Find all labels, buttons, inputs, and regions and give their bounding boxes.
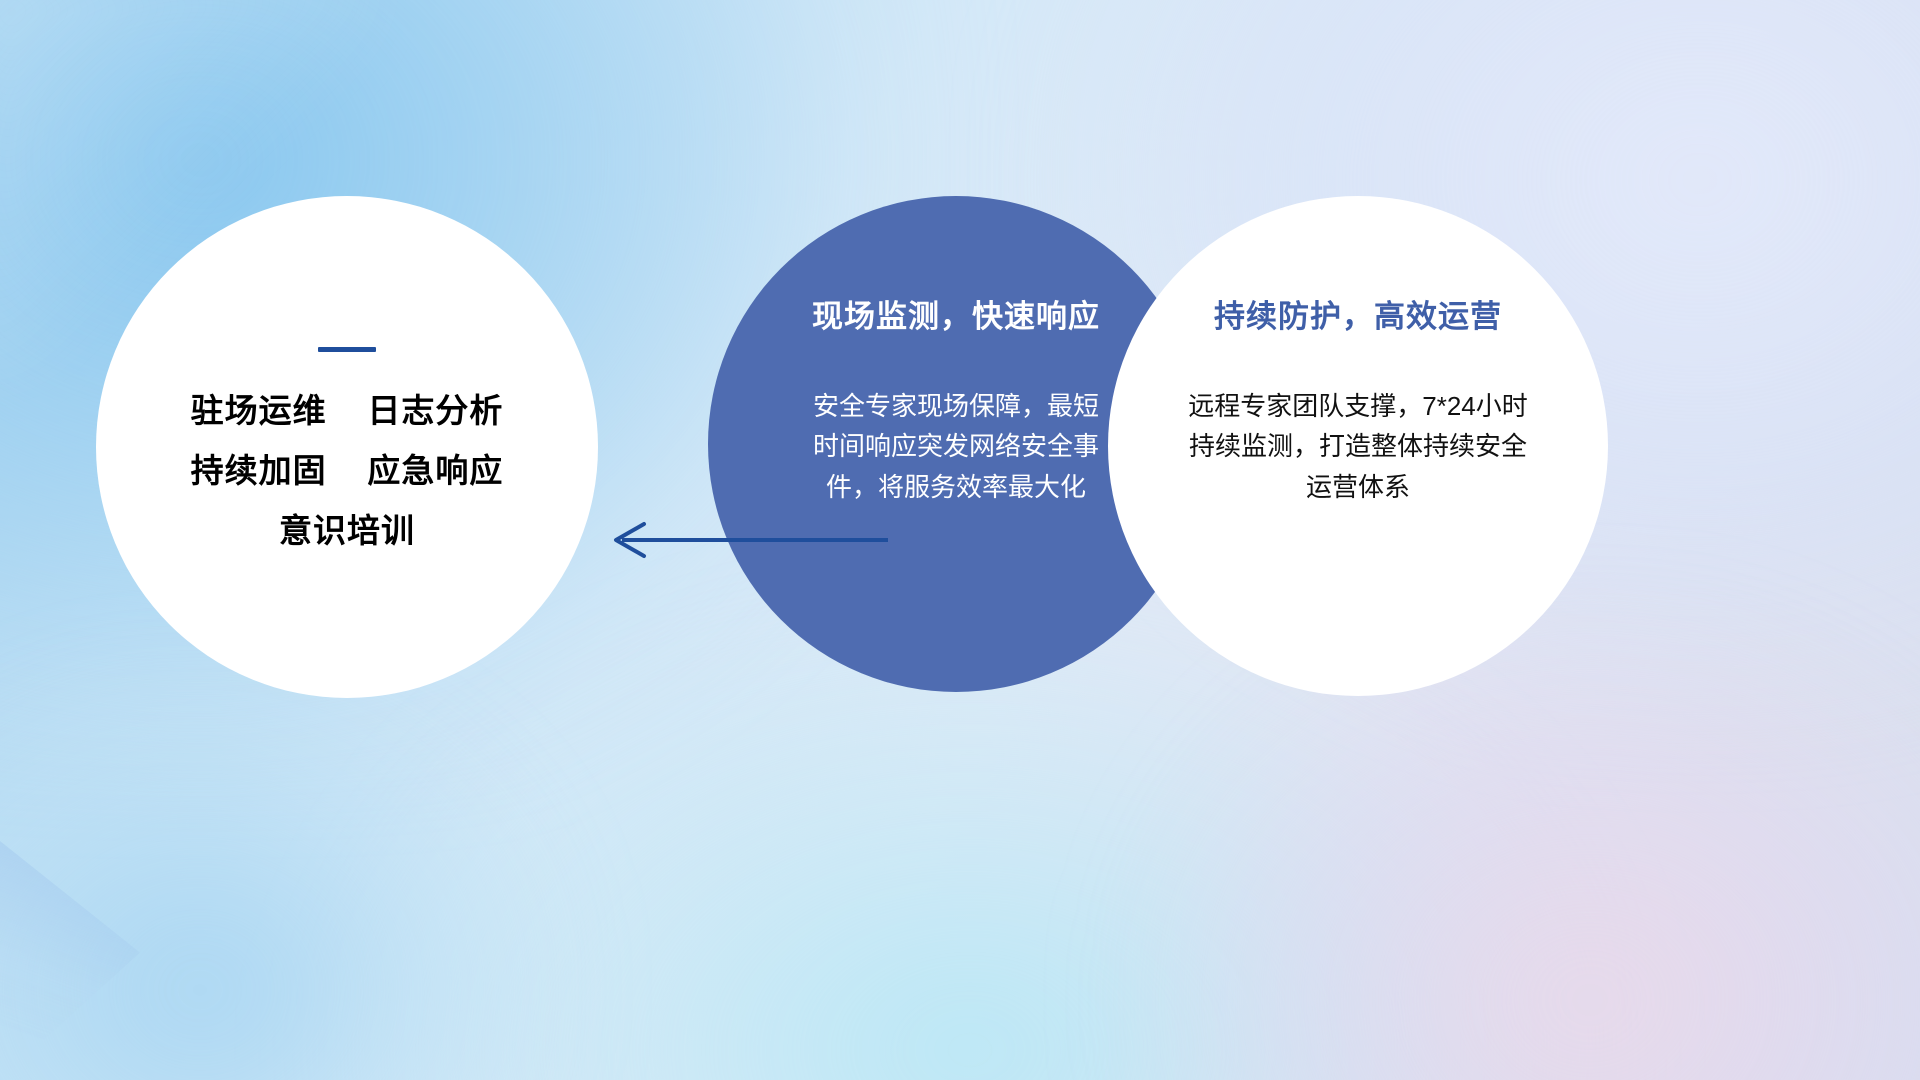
right-circle-title: 持续防护，高效运营: [1214, 300, 1502, 334]
left-circle-line-2: 持续加固 应急响应: [191, 454, 504, 487]
left-circle-line-3: 意识培训: [279, 514, 415, 547]
left-circle-divider: [318, 347, 376, 352]
background-glow-bottom-left: [0, 680, 560, 1080]
middle-circle-body: 安全专家现场保障，最短时间响应突发网络安全事件，将服务效率最大化: [801, 386, 1111, 507]
right-circle-body: 远程专家团队支撑，7*24小时持续监测，打造整体持续安全运营体系: [1178, 386, 1538, 507]
left-circle-line-1: 驻场运维 日志分析: [191, 394, 504, 427]
left-circle-content: 驻场运维 日志分析 持续加固 应急响应 意识培训: [96, 196, 598, 698]
right-circle-content: 持续防护，高效运营 远程专家团队支撑，7*24小时持续监测，打造整体持续安全运营…: [1108, 196, 1608, 696]
middle-circle-title: 现场监测，快速响应: [812, 300, 1100, 334]
slide-canvas: 驻场运维 日志分析 持续加固 应急响应 意识培训 现场监测，快速响应 安全专家现…: [0, 0, 1920, 1080]
